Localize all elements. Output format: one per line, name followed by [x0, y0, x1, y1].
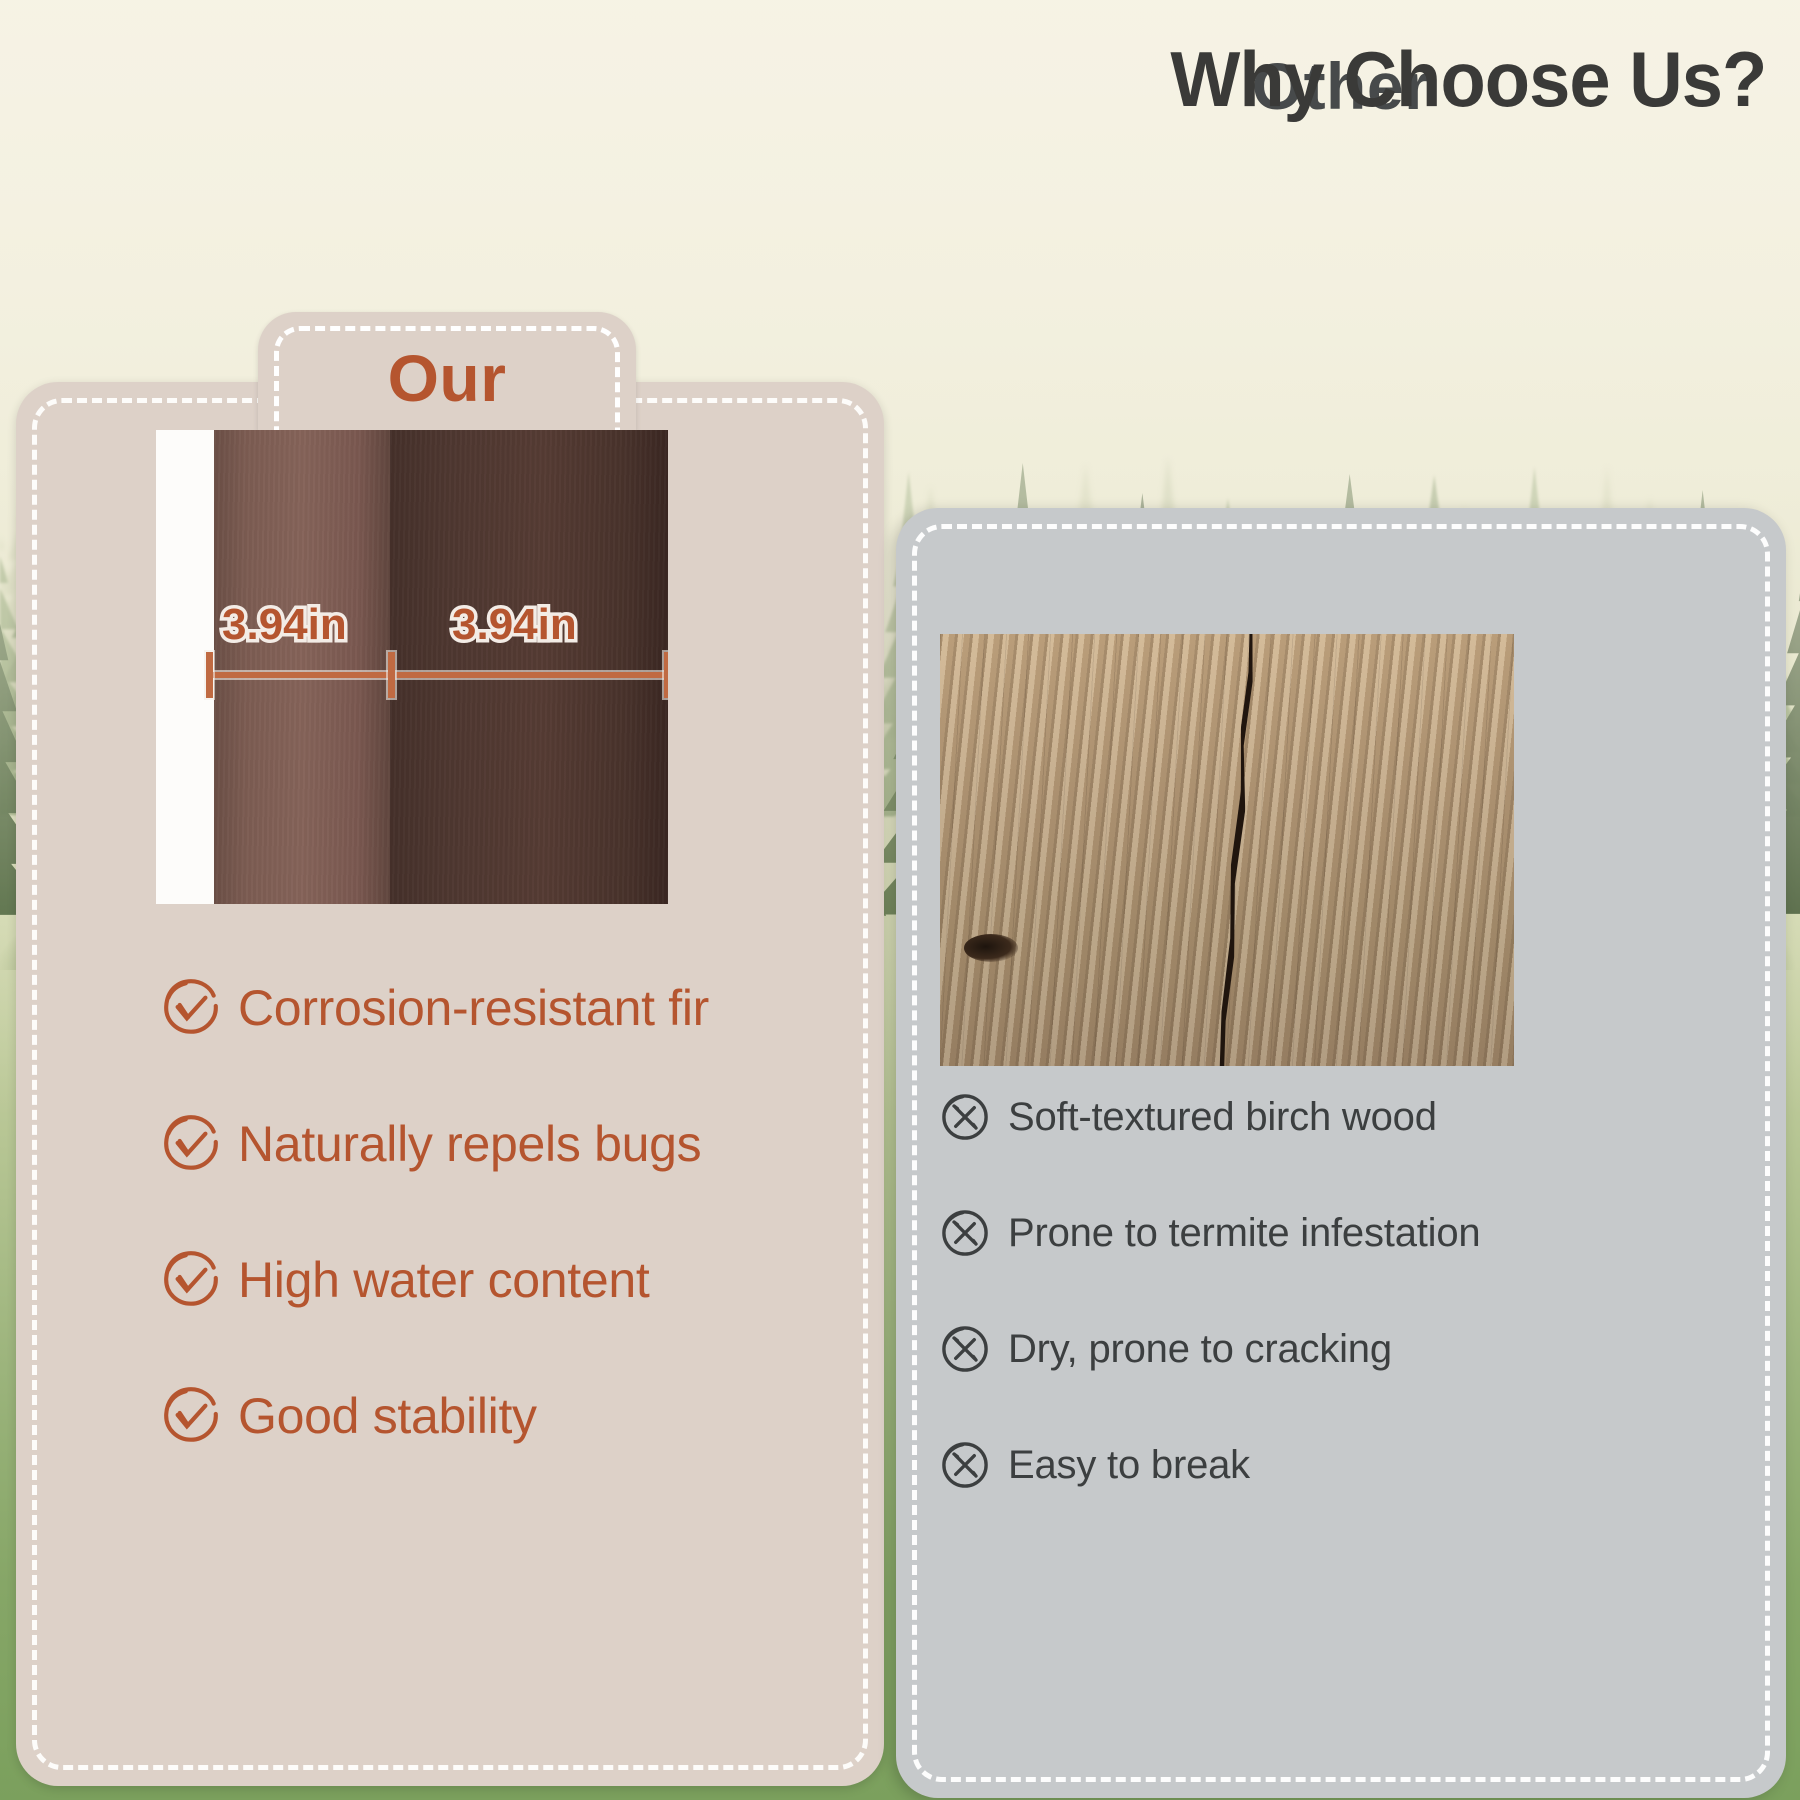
x-circle-icon	[938, 1206, 992, 1260]
list-item-label: Good stability	[238, 1387, 537, 1445]
list-item: Soft-textured birch wood	[938, 1090, 1658, 1144]
wood-knot	[964, 934, 1018, 962]
dimension-cap-left	[206, 652, 213, 698]
our-feature-list: Corrosion-resistant fir Naturally repels…	[158, 975, 848, 1449]
page-title: Why Choose Us?	[1170, 34, 1766, 125]
dimension-line-1	[210, 672, 392, 678]
dimension-label-1: 3.94in	[222, 600, 347, 650]
list-item-label: High water content	[238, 1251, 650, 1309]
list-item: High water content	[158, 1247, 848, 1313]
our-tab: Our	[258, 312, 636, 432]
x-circle-icon	[938, 1438, 992, 1492]
check-circle-icon	[158, 1383, 224, 1449]
list-item: Corrosion-resistant fir	[158, 975, 848, 1041]
list-item-label: Naturally repels bugs	[238, 1115, 701, 1173]
other-product-photo	[940, 634, 1514, 1066]
infographic-canvas: Why Choose Us? Our 3.94in 3.94in Corrosi…	[0, 0, 1800, 1800]
our-product-photo: 3.94in 3.94in	[156, 430, 668, 904]
list-item: Good stability	[158, 1383, 848, 1449]
list-item-label: Corrosion-resistant fir	[238, 979, 709, 1037]
list-item-label: Dry, prone to cracking	[1008, 1327, 1392, 1372]
dimension-cap-right	[664, 652, 668, 698]
other-drawback-list: Soft-textured birch wood Prone to termit…	[938, 1090, 1658, 1554]
list-item: Naturally repels bugs	[158, 1111, 848, 1177]
dimension-line-2	[396, 672, 668, 678]
x-circle-icon	[938, 1090, 992, 1144]
list-item-label: Soft-textured birch wood	[1008, 1095, 1437, 1140]
x-circle-icon	[938, 1322, 992, 1376]
check-circle-icon	[158, 1247, 224, 1313]
list-item-label: Easy to break	[1008, 1443, 1250, 1488]
list-item: Prone to termite infestation	[938, 1206, 1658, 1260]
check-circle-icon	[158, 975, 224, 1041]
check-circle-icon	[158, 1111, 224, 1177]
dimension-label-2: 3.94in	[452, 600, 577, 650]
dimension-cap-mid	[388, 652, 395, 698]
list-item: Easy to break	[938, 1438, 1658, 1492]
dimension-callouts: 3.94in 3.94in	[156, 600, 668, 710]
our-tab-label: Our	[258, 340, 636, 416]
list-item: Dry, prone to cracking	[938, 1322, 1658, 1376]
list-item-label: Prone to termite infestation	[1008, 1211, 1480, 1256]
